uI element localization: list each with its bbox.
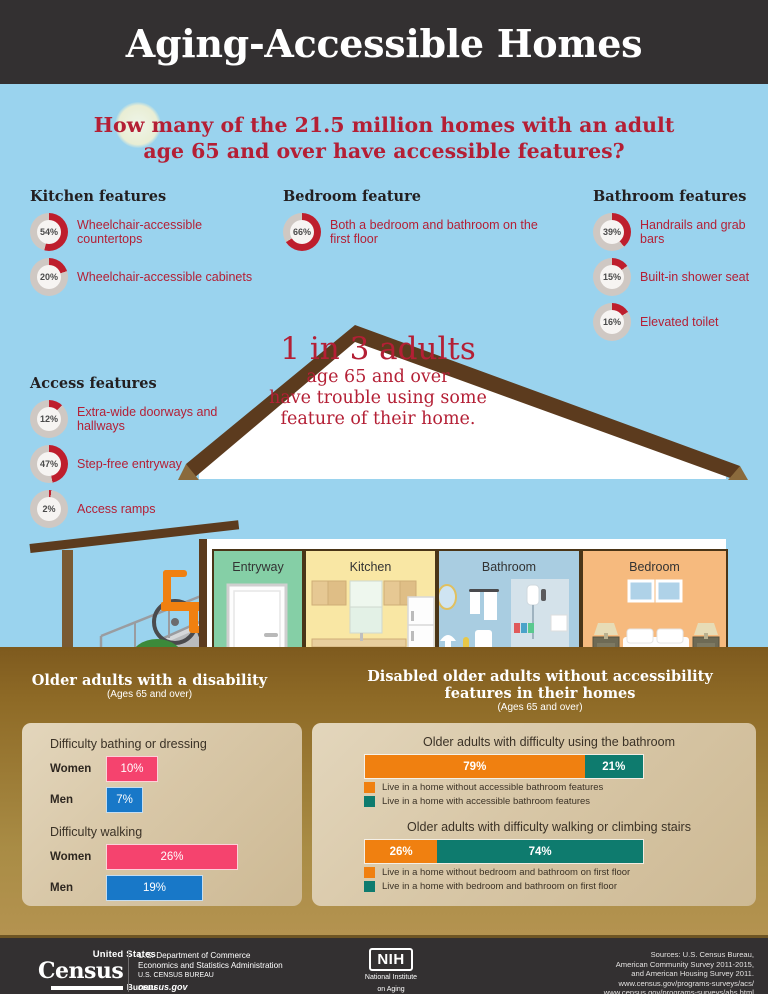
right-section-title-line2: features in their homes [330, 685, 750, 702]
donut-value: 2% [37, 497, 61, 521]
hero-stat-line2: have trouble using some [228, 388, 528, 409]
feature-label: Access ramps [77, 502, 156, 517]
bar-row: Women 26% [50, 844, 302, 870]
feature-label: Step-free entryway [77, 457, 182, 472]
feature-row: 54% Wheelchair-accessible countertops [30, 213, 265, 251]
stacked-bar-bathroom: 79% 21% Live in a home without accessibl… [364, 754, 644, 807]
room-label-bedroom: Bedroom [583, 560, 726, 574]
hero-statistic: 1 in 3 adults age 65 and over have troub… [228, 331, 528, 430]
donut-chart: 12% [30, 400, 68, 438]
feature-row: 47% Step-free entryway [30, 445, 245, 483]
left-chart-panel: Difficulty bathing or dressing Women 10%… [22, 723, 302, 906]
source-line: and American Housing Survey 2011. [604, 969, 754, 979]
segment-with-bathroom: 21% [585, 755, 643, 778]
bar-value: 10% [120, 763, 143, 775]
group-access-features: Access features 12% Extra-wide doorways … [30, 375, 245, 535]
legend-label: Live in a home without accessible bathro… [382, 782, 603, 793]
group-title-kitchen: Kitchen features [30, 188, 265, 205]
commerce-text: U.S. Department of Commerce Economics an… [128, 951, 318, 992]
legend-label: Live in a home without bedroom and bathr… [382, 867, 630, 878]
legend-swatch-orange [364, 867, 375, 878]
chart-title-walking: Difficulty walking [50, 825, 302, 839]
house-illustration: 1 in 3 adults age 65 and over have troub… [0, 84, 768, 655]
feature-row: 66% Both a bedroom and bathroom on the f… [283, 213, 543, 251]
donut-chart: 20% [30, 258, 68, 296]
bar-label: Men [50, 794, 106, 806]
left-section-header: Older adults with a disability (Ages 65 … [22, 672, 277, 700]
donut-value: 39% [600, 220, 624, 244]
donut-chart: 39% [593, 213, 631, 251]
donut-value: 15% [600, 265, 624, 289]
room-label-entryway: Entryway [214, 560, 302, 574]
feature-label: Extra-wide doorways and hallways [77, 405, 245, 434]
feature-row: 16% Elevated toilet [593, 303, 768, 341]
room-label-bathroom: Bathroom [439, 560, 579, 574]
chart-title-walking-stack: Older adults with difficulty walking or … [364, 820, 734, 834]
page-footer: United States Census Bureau U.S. Departm… [0, 935, 768, 994]
segment-value: 21% [602, 761, 625, 773]
chart-title-bathroom-stack: Older adults with difficulty using the b… [364, 735, 734, 749]
legend-item: Live in a home with accessible bathroom … [364, 796, 644, 807]
donut-value: 16% [600, 310, 624, 334]
left-section-subtitle: (Ages 65 and over) [22, 689, 277, 700]
bar-label: Men [50, 882, 106, 894]
donut-value: 12% [37, 407, 61, 431]
donut-value: 47% [37, 452, 61, 476]
feature-label: Wheelchair-accessible cabinets [77, 270, 252, 285]
donut-chart: 54% [30, 213, 68, 251]
nih-sub-2: on Aging [345, 986, 437, 994]
donut-value: 20% [37, 265, 61, 289]
legend-swatch-orange [364, 782, 375, 793]
hero-stat-headline: 1 in 3 adults [228, 331, 528, 367]
group-title-bathroom: Bathroom features [593, 188, 768, 205]
legend-label: Live in a home with accessible bathroom … [382, 796, 590, 807]
bar-men-bathing: 7% [106, 787, 143, 813]
segment-with-firstfloor: 74% [437, 840, 643, 863]
bar-label: Women [50, 851, 106, 863]
feature-label: Handrails and grab bars [640, 218, 768, 247]
segment-without-firstfloor: 26% [365, 840, 437, 863]
bar-row: Men 19% [50, 875, 302, 901]
sources-text: Sources: U.S. Census Bureau, American Co… [604, 950, 754, 994]
segment-value: 26% [390, 846, 413, 858]
nih-logo: NIH National Institute on Aging [345, 948, 437, 994]
bar-value: 26% [160, 851, 183, 863]
group-title-access: Access features [30, 375, 245, 392]
bar-row: Men 7% [50, 787, 302, 813]
bar-row: Women 10% [50, 756, 302, 782]
segment-value: 79% [463, 761, 486, 773]
nih-mark: NIH [369, 948, 412, 971]
donut-value: 66% [290, 220, 314, 244]
porch-post [62, 550, 73, 660]
bar-women-bathing: 10% [106, 756, 158, 782]
feature-row: 12% Extra-wide doorways and hallways [30, 400, 245, 438]
legend-item: Live in a home with bedroom and bathroom… [364, 881, 644, 892]
group-kitchen-features: Kitchen features 54% Wheelchair-accessib… [30, 188, 265, 303]
group-title-bedroom: Bedroom feature [283, 188, 543, 205]
page-title: Aging-Accessible Homes [0, 21, 768, 66]
donut-chart: 66% [283, 213, 321, 251]
feature-label: Built-in shower seat [640, 270, 749, 285]
feature-label: Wheelchair-accessible countertops [77, 218, 265, 247]
infographic-page: Aging-Accessible Homes How many of the 2… [0, 0, 768, 994]
legend-swatch-teal [364, 881, 375, 892]
donut-chart: 15% [593, 258, 631, 296]
bar-value: 19% [143, 882, 166, 894]
bar-women-walking: 26% [106, 844, 238, 870]
segment-value: 74% [529, 846, 552, 858]
segment-without-bathroom: 79% [365, 755, 585, 778]
legend-item: Live in a home without accessible bathro… [364, 782, 644, 793]
commerce-line-1: U.S. Department of Commerce [138, 951, 318, 961]
source-line[interactable]: www.census.gov/programs-surveys/acs/ [604, 979, 754, 989]
right-chart-panel: Older adults with difficulty using the b… [312, 723, 756, 906]
feature-row: 15% Built-in shower seat [593, 258, 768, 296]
legend-item: Live in a home without bedroom and bathr… [364, 867, 644, 878]
right-section-header: Disabled older adults without accessibil… [330, 668, 750, 713]
census-gov-link[interactable]: census.gov [138, 982, 318, 992]
room-label-kitchen: Kitchen [306, 560, 435, 574]
chart-title-bathing: Difficulty bathing or dressing [50, 737, 302, 751]
feature-label: Elevated toilet [640, 315, 719, 330]
stacked-bar-walking: 26% 74% Live in a home without bedroom a… [364, 839, 644, 892]
nih-sub-1: National Institute [345, 974, 437, 983]
group-bathroom-features: Bathroom features 39% Handrails and grab… [593, 188, 768, 348]
feature-row: 20% Wheelchair-accessible cabinets [30, 258, 265, 296]
bar-men-walking: 19% [106, 875, 203, 901]
bar-label: Women [50, 763, 106, 775]
feature-row: 2% Access ramps [30, 490, 245, 528]
feature-row: 39% Handrails and grab bars [593, 213, 768, 251]
left-section-title: Older adults with a disability [22, 672, 277, 689]
hero-stat-line1: age 65 and over [228, 367, 528, 388]
right-section-title-line1: Disabled older adults without accessibil… [330, 668, 750, 685]
bar-value: 7% [116, 794, 133, 806]
commerce-line-2: Economics and Statistics Administration [138, 961, 318, 971]
source-line[interactable]: www.census.gov/programs-surveys/ahs.html [604, 988, 754, 994]
source-line: American Community Survey 2011-2015, [604, 960, 754, 970]
right-section-subtitle: (Ages 65 and over) [330, 702, 750, 713]
commerce-line-3: U.S. CENSUS BUREAU [138, 971, 318, 981]
feature-label: Both a bedroom and bathroom on the first… [330, 218, 543, 247]
donut-chart: 16% [593, 303, 631, 341]
hero-stat-line3: feature of their home. [228, 409, 528, 430]
donut-chart: 47% [30, 445, 68, 483]
donut-chart: 2% [30, 490, 68, 528]
page-header: Aging-Accessible Homes [0, 0, 768, 84]
donut-value: 54% [37, 220, 61, 244]
group-bedroom-feature: Bedroom feature 66% Both a bedroom and b… [283, 188, 543, 258]
legend-swatch-teal [364, 796, 375, 807]
source-line: Sources: U.S. Census Bureau, [604, 950, 754, 960]
legend-label: Live in a home with bedroom and bathroom… [382, 881, 617, 892]
